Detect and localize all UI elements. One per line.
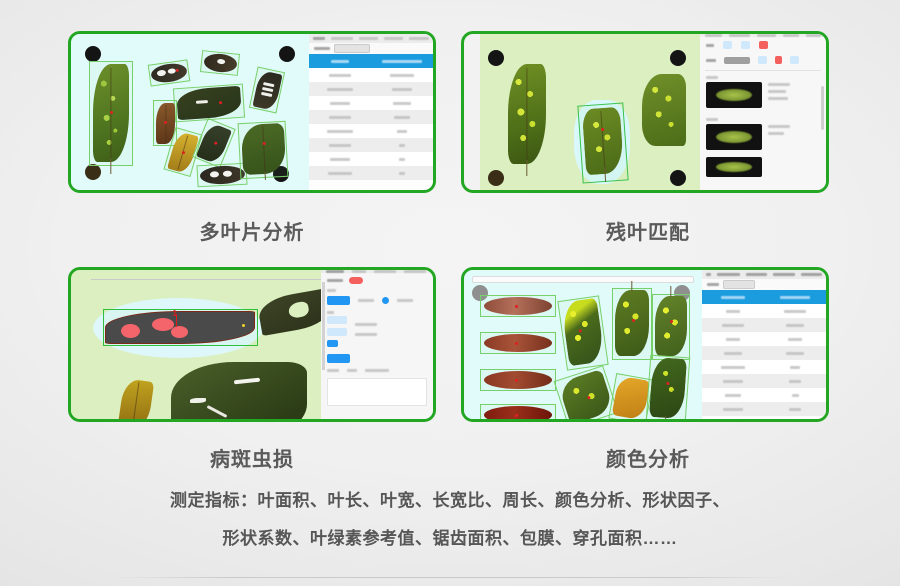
leaf-shape-holed	[256, 288, 321, 336]
leaf-shape	[484, 406, 552, 419]
screenshot-leaf-matching	[464, 34, 826, 190]
leaf-canvas-multi[interactable]	[71, 34, 309, 190]
table-row[interactable]	[702, 388, 826, 402]
settings-label	[327, 279, 343, 282]
match-list-pane[interactable]	[700, 34, 826, 190]
leaf-canvas-color[interactable]	[464, 270, 702, 419]
registration-dot-tl	[488, 50, 504, 66]
lesion-option[interactable]	[327, 316, 347, 324]
table-row[interactable]	[702, 360, 826, 374]
registration-dot-bl	[85, 164, 101, 180]
table-toolbar[interactable]	[702, 270, 826, 279]
scrollbar[interactable]	[322, 282, 325, 370]
table-row[interactable]	[702, 332, 826, 346]
table-toolbar[interactable]	[309, 34, 433, 43]
toolbar-label	[706, 44, 714, 47]
registration-dot-tr	[670, 50, 686, 66]
table-row[interactable]	[309, 96, 433, 110]
toolbar-label	[331, 37, 353, 40]
match-thumbnail[interactable]	[706, 157, 762, 177]
table-row[interactable]	[702, 374, 826, 388]
caption-leaf-matching: 残叶匹配	[396, 216, 900, 245]
column-header	[331, 60, 349, 63]
leaf-shape-torn	[642, 74, 686, 146]
table-row[interactable]	[309, 166, 433, 180]
lesion-action-button[interactable]	[327, 296, 350, 305]
toolbar-label	[384, 37, 403, 40]
table-row[interactable]	[309, 82, 433, 96]
results-table-pane-multi[interactable]	[309, 34, 433, 190]
screenshot-lesion-damage: 1	[71, 270, 433, 419]
table-row[interactable]	[702, 402, 826, 416]
leaf-canvas-lesion[interactable]: 1	[71, 270, 321, 419]
leaf-shape-damaged	[171, 362, 307, 419]
match-result-item[interactable]	[700, 71, 826, 113]
caption-color-analysis: 颜色分析	[396, 443, 900, 472]
filter-label	[314, 47, 330, 50]
scratch-mark	[207, 405, 228, 418]
match-tool-button[interactable]	[790, 56, 799, 64]
leaf-shape	[118, 378, 154, 419]
leaf-shape	[241, 123, 287, 175]
table-header-row	[702, 290, 826, 304]
leaf-shape	[200, 165, 246, 185]
panel-color-analysis[interactable]	[461, 267, 829, 422]
match-result-item[interactable]	[700, 113, 826, 155]
leaf-shape	[484, 297, 552, 315]
table-row[interactable]	[309, 138, 433, 152]
lesion-apply-button[interactable]	[327, 354, 350, 363]
settings-output-box	[327, 378, 427, 406]
panel-lesion-damage[interactable]: 1	[68, 267, 436, 422]
leaf-shape-analyzed: 1	[105, 311, 255, 344]
leaf-shape	[655, 296, 687, 356]
registration-dot-br	[670, 170, 686, 186]
match-tool-button[interactable]	[758, 56, 767, 64]
filter-dropdown[interactable]	[723, 280, 755, 289]
page-root: 多叶片分析	[0, 0, 900, 586]
leaf-shape-reference	[508, 64, 546, 164]
table-row[interactable]	[309, 68, 433, 82]
table-row[interactable]	[309, 124, 433, 138]
footer-divider	[110, 577, 790, 578]
lesion-spot	[152, 318, 174, 331]
leaf-shape	[484, 371, 552, 389]
table-row[interactable]	[309, 110, 433, 124]
table-filter-row[interactable]	[702, 279, 826, 290]
lesion-option[interactable]	[327, 328, 347, 336]
match-thumbnail[interactable]	[706, 124, 762, 150]
match-thumbnail[interactable]	[706, 82, 762, 108]
table-row[interactable]	[309, 152, 433, 166]
screenshot-color-analysis	[464, 270, 826, 419]
match-tool-button[interactable]	[741, 41, 750, 49]
column-header	[382, 60, 422, 63]
registration-dot-tr	[279, 46, 295, 62]
spec-line-1: 测定指标：叶面积、叶长、叶宽、长宽比、周长、颜色分析、形状因子、	[0, 486, 900, 511]
scratch-mark	[190, 398, 206, 403]
screenshot-multi-leaf	[71, 34, 433, 190]
toolbar-label	[313, 37, 325, 40]
table-row[interactable]	[702, 304, 826, 318]
match-delete-button[interactable]	[759, 41, 768, 49]
registration-dot-bl	[488, 170, 504, 186]
panel-multi-leaf[interactable]	[68, 31, 436, 193]
settings-toolbar[interactable]	[321, 270, 433, 273]
table-row[interactable]	[702, 346, 826, 360]
leaf-shape	[93, 64, 129, 162]
results-table-pane-color[interactable]	[702, 270, 826, 419]
lesion-radio[interactable]	[382, 297, 389, 304]
toolbar-label	[359, 37, 378, 40]
leaf-shape	[203, 52, 238, 73]
leaf-shape	[196, 122, 232, 165]
table-header-row	[309, 54, 433, 68]
match-result-item[interactable]	[700, 155, 826, 179]
panel-leaf-matching[interactable]	[461, 31, 829, 193]
leaf-shape	[484, 334, 552, 352]
leaf-shape	[612, 376, 650, 419]
canvas-top-divider	[472, 276, 694, 283]
scrollbar[interactable]	[821, 86, 824, 130]
match-toolbar[interactable]	[700, 34, 826, 37]
match-input[interactable]	[724, 57, 750, 64]
leaf-shape-fragment	[582, 107, 625, 175]
table-row[interactable]	[702, 318, 826, 332]
leaf-canvas-matching[interactable]	[480, 34, 700, 190]
perforation	[288, 301, 310, 319]
spec-line-2: 形状系数、叶绿素参考值、锯齿面积、包膜、穿孔面积……	[0, 524, 900, 549]
canvas-top-divider	[91, 279, 321, 280]
lesion-settings-pane[interactable]	[321, 270, 433, 419]
toolbar-label	[409, 37, 429, 40]
measure-label: 1	[173, 309, 177, 318]
registration-dot-tl	[85, 46, 101, 62]
match-delete-button[interactable]	[775, 56, 782, 64]
leaf-shape	[176, 86, 242, 120]
toolbar-label	[706, 59, 716, 62]
filter-dropdown[interactable]	[334, 44, 370, 53]
leaf-shape	[615, 290, 649, 356]
table-filter-row[interactable]	[309, 43, 433, 54]
lesion-option-active[interactable]	[327, 340, 338, 347]
lesion-spot	[121, 324, 140, 338]
lesion-color-swatch[interactable]	[349, 277, 363, 284]
leaf-shape	[649, 357, 687, 419]
scratch-mark	[233, 378, 259, 385]
match-tool-button[interactable]	[723, 41, 732, 49]
lesion-spot	[171, 326, 188, 338]
